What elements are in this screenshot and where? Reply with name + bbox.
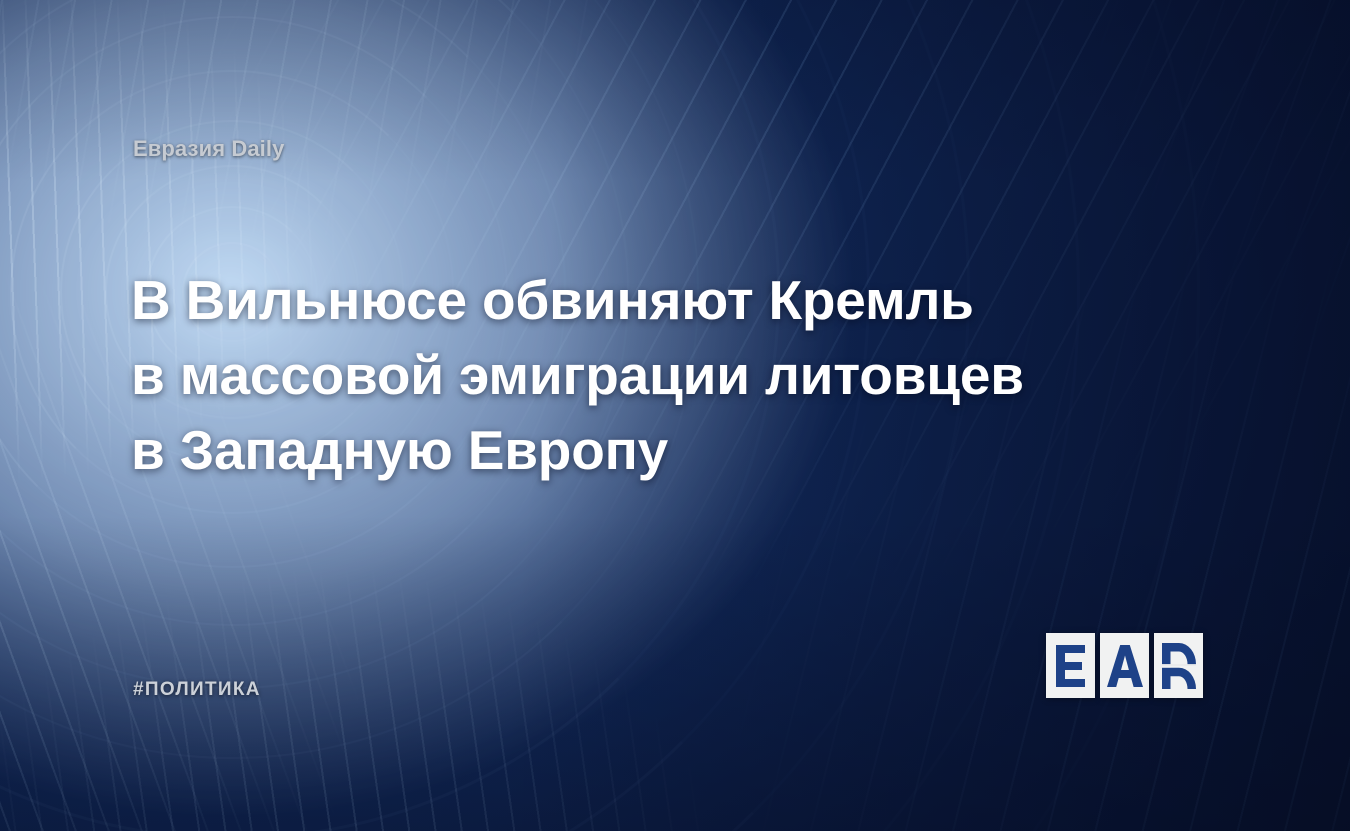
ead-logo[interactable]: E A D: [1046, 633, 1203, 698]
logo-tile-e: E: [1046, 633, 1095, 698]
news-card: Евразия Daily В Вильнюсе обвиняют Кремль…: [0, 0, 1350, 831]
logo-tile-d: D: [1154, 633, 1203, 698]
headline-line-2: в массовой эмиграции литовцев: [131, 338, 1071, 413]
headline-line-1: В Вильнюсе обвиняют Кремль: [131, 263, 1071, 338]
page-title: В Вильнюсе обвиняют Кремль в массовой эм…: [131, 263, 1071, 488]
headline-line-3: в Западную Европу: [131, 413, 1071, 488]
letter-d-split-tile-icon: [1162, 643, 1196, 689]
letter-a-tile-icon: [1107, 645, 1143, 687]
card-content: Евразия Daily В Вильнюсе обвиняют Кремль…: [0, 0, 1350, 831]
logo-tile-a: A: [1100, 633, 1149, 698]
letter-e-tile-icon: [1056, 645, 1086, 687]
category-tag[interactable]: #ПОЛИТИКА: [133, 679, 261, 701]
brand-name: Евразия Daily: [133, 136, 284, 162]
